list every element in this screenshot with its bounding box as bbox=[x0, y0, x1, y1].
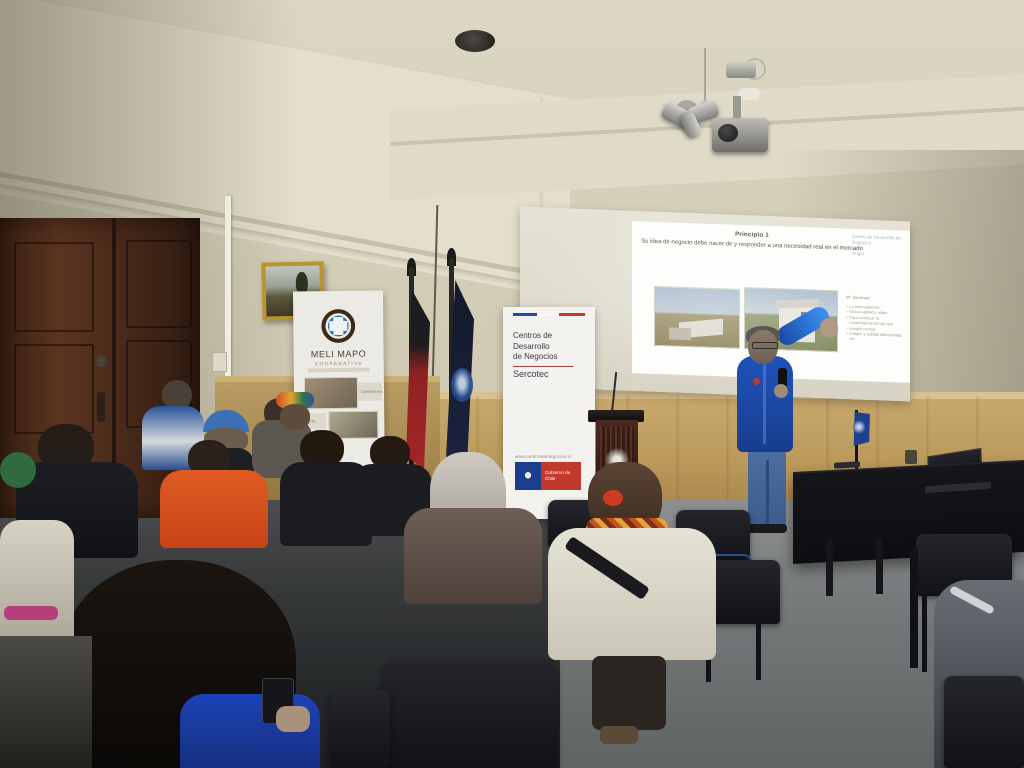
chair-leg bbox=[910, 548, 918, 668]
gob-logo-blue-block bbox=[515, 462, 541, 490]
banner-heading-line2: Desarrollo bbox=[513, 342, 591, 353]
barn-wall-shape bbox=[669, 327, 691, 340]
light-jacket bbox=[0, 520, 74, 650]
flag-stripe-blue bbox=[513, 313, 537, 316]
flag-stripe-white bbox=[537, 313, 559, 316]
chair-foreground[interactable] bbox=[944, 676, 1024, 768]
projector-lens-icon bbox=[718, 124, 738, 142]
orange-jacket bbox=[160, 470, 268, 548]
presenter-shoes bbox=[745, 524, 787, 533]
gob-logo-text: Gobierno de Chile bbox=[545, 470, 581, 482]
bullet-dot-icon: • bbox=[846, 331, 847, 336]
slide-bullet-text: Imagen y calidad diferenciada, etc bbox=[849, 331, 904, 344]
door-panel bbox=[14, 242, 94, 332]
meli-cross-shape bbox=[329, 321, 347, 331]
person-head bbox=[280, 404, 310, 430]
projector-arm bbox=[726, 62, 756, 78]
chile-crest-icon bbox=[521, 469, 535, 483]
banner-url: www.centrosdenegocios.cl bbox=[515, 454, 572, 459]
presenter-hand-holding-mic bbox=[774, 384, 788, 398]
slide-logo-text: Centro de Desarrollo de Negocios bbox=[852, 234, 901, 246]
flag-stripe-red bbox=[559, 313, 585, 316]
gob-logo-red-block: Gobierno de Chile bbox=[541, 462, 581, 490]
presenter-glasses-icon bbox=[752, 342, 778, 349]
table-leg bbox=[876, 538, 883, 594]
empty-chair-foreground[interactable] bbox=[382, 660, 558, 768]
green-hat-icon bbox=[0, 452, 36, 488]
slide-logo-city: Angol bbox=[852, 251, 904, 259]
banner-divider bbox=[513, 366, 573, 367]
presenter-leg-split bbox=[766, 460, 769, 526]
presenter-jacket-zip bbox=[763, 360, 766, 444]
brown-coat bbox=[404, 508, 542, 604]
meli-mapo-name: MELI MAPO bbox=[294, 349, 384, 360]
photo-scene: Principio 1 Su idea de negocio debe nace… bbox=[0, 0, 1024, 768]
meli-divider bbox=[308, 368, 370, 373]
slide-photo-left bbox=[654, 286, 740, 349]
banner-heading-line1: Centros de bbox=[513, 331, 591, 342]
banner-sercotec: Centros de Desarrollo de Negocios Sercot… bbox=[503, 307, 595, 519]
person-lap bbox=[592, 656, 666, 730]
banner-caption-text: Campesina bbox=[361, 390, 383, 394]
pink-item bbox=[4, 606, 58, 620]
slide-corner-logo: Centro de Desarrollo de Negocios Angol bbox=[852, 234, 904, 259]
banner-heading-line3: de Negocios bbox=[513, 352, 591, 363]
door-panel bbox=[126, 240, 192, 328]
slide-bullet-heading: M° Gourmet bbox=[846, 295, 904, 302]
bullet-dot-icon: • bbox=[846, 314, 847, 319]
desk-flag-emblem-icon bbox=[853, 420, 865, 434]
ceiling-fan-icon bbox=[455, 30, 495, 52]
chair-leg bbox=[922, 594, 927, 672]
meli-mapo-tagline: COOPERATIVA bbox=[294, 361, 384, 367]
chair-leg bbox=[756, 618, 761, 680]
banner-heading: Centros de Desarrollo de Negocios bbox=[513, 331, 591, 363]
slide-bullet-item: •Imagen y calidad diferenciada, etc bbox=[846, 331, 904, 344]
door-knob-icon[interactable] bbox=[96, 356, 107, 367]
red-flower-hair-clip-icon bbox=[603, 490, 623, 506]
building-roof-shape bbox=[775, 299, 819, 309]
person-shoe bbox=[600, 726, 638, 744]
slide-bullet-list: M° Gourmet •Lo mas requerido •Busca cali… bbox=[846, 295, 904, 344]
door-panel bbox=[14, 344, 94, 434]
cup-on-table bbox=[905, 450, 917, 464]
banner-caption-box: Campesina bbox=[358, 383, 382, 401]
flag-emblem-icon bbox=[451, 368, 473, 402]
light-switch-icon[interactable] bbox=[212, 352, 227, 372]
gobierno-de-chile-logo: Gobierno de Chile bbox=[515, 462, 581, 490]
presenter-badge bbox=[753, 378, 760, 385]
person-torso bbox=[0, 636, 92, 768]
person-hand bbox=[276, 706, 310, 732]
light-pull-chain bbox=[704, 48, 706, 102]
door-handle-icon[interactable] bbox=[97, 392, 105, 422]
projector-bracket bbox=[738, 88, 760, 100]
table-leg bbox=[826, 540, 833, 596]
banner-brand: Sercotec bbox=[513, 369, 549, 379]
empty-chair-foreground[interactable] bbox=[330, 690, 390, 768]
